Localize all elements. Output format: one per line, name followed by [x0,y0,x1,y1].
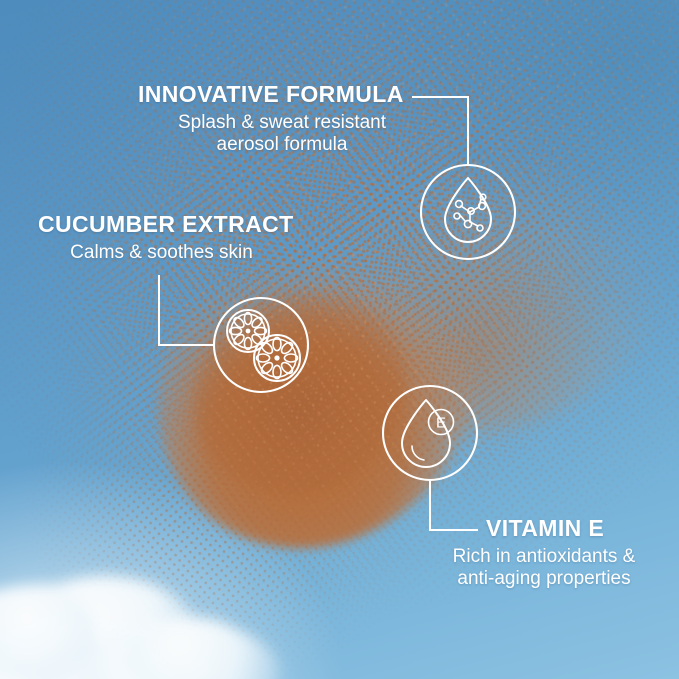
cloud [0,509,350,679]
callout-cucumber-extract: CUCUMBER EXTRACT Calms & soothes skin [38,212,294,264]
callout-subline-innovative-formula: Splash & sweat resistant aerosol formula [138,112,426,156]
callout-headline-cucumber-extract: CUCUMBER EXTRACT [38,212,294,236]
subline-line-1: Calms & soothes skin [38,242,285,264]
subline-line-1: Rich in antioxidants & [447,546,641,568]
callout-subline-vitamin-e: Rich in antioxidants & anti-aging proper… [447,546,641,590]
product-feature-infographic: E INNOVATIVE FORMULA Splash & sweat resi… [0,0,679,679]
callout-subline-cucumber-extract: Calms & soothes skin [38,242,285,264]
subline-line-2: aerosol formula [138,134,426,156]
subline-line-2: anti-aging properties [447,568,641,590]
callout-vitamin-e: VITAMIN E Rich in antioxidants & anti-ag… [486,516,641,590]
callout-innovative-formula: INNOVATIVE FORMULA Splash & sweat resist… [138,82,426,156]
subline-line-1: Splash & sweat resistant [138,112,426,134]
callout-headline-vitamin-e: VITAMIN E [486,516,641,540]
callout-headline-innovative-formula: INNOVATIVE FORMULA [138,82,426,106]
